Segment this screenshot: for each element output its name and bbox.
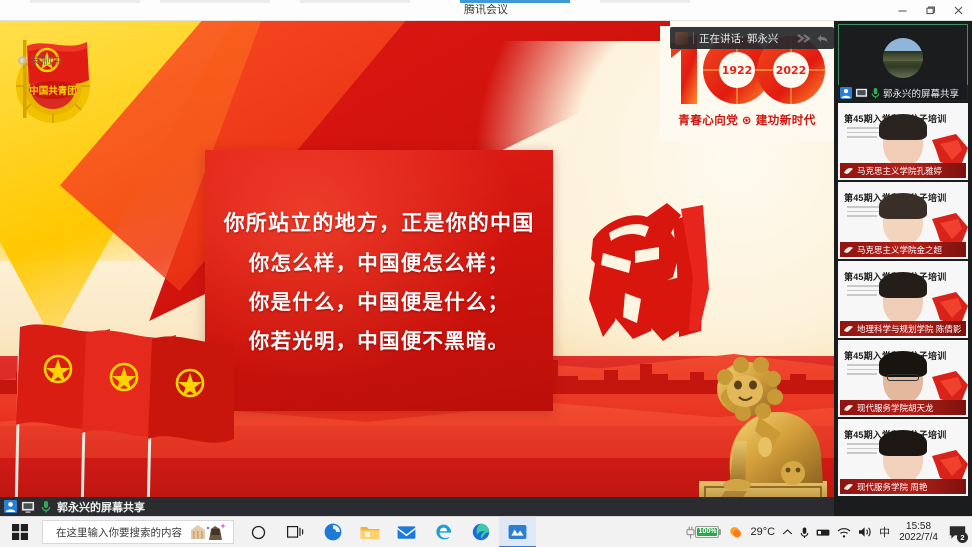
back-arrow-icon[interactable] bbox=[816, 33, 829, 44]
mic-muted-icon bbox=[843, 245, 854, 254]
participant-tile[interactable]: 第45期入党积极分子培训 马克思主义学院金之超 bbox=[838, 182, 968, 259]
temperature-label: 29°C bbox=[750, 526, 775, 538]
screen-share-label: 郭永兴的屏幕共享 bbox=[57, 499, 145, 515]
tencent-meeting-window: 腾讯会议 bbox=[0, 0, 972, 547]
power-plug-icon bbox=[686, 526, 695, 539]
window-title: 腾讯会议 bbox=[0, 0, 972, 21]
participant-name-bar: 马克思主义学院孔雅婷 bbox=[840, 163, 966, 178]
microphone-icon bbox=[871, 87, 880, 99]
participant-name-bar: 地理科学与规划学院 陈倩影 bbox=[840, 321, 966, 336]
battery-indicator[interactable]: 100% bbox=[686, 526, 721, 539]
recording-label: 录制中 bbox=[30, 53, 63, 68]
participant-name: 现代服务学院 周艳 bbox=[857, 481, 927, 493]
active-speaker-bar: 正在讲话: 郭永兴 bbox=[670, 27, 834, 49]
taskbar-icons bbox=[240, 517, 536, 547]
participant-name-bar: 马克思主义学院金之超 bbox=[840, 242, 966, 257]
speaker-avatar-icon bbox=[675, 32, 688, 45]
screen-share-status-bar: 郭永兴的屏幕共享 bbox=[0, 497, 834, 516]
mic-muted-icon bbox=[843, 166, 854, 175]
year-start: 1922 bbox=[722, 64, 753, 77]
participant-face bbox=[883, 118, 923, 166]
participant-name: 地理科学与规划学院 陈倩影 bbox=[857, 323, 961, 335]
participant-tile[interactable]: 第45期入党积极分子培训 现代服务学院胡天龙 bbox=[838, 340, 968, 417]
participant-name: 现代服务学院胡天龙 bbox=[857, 402, 934, 414]
restore-button[interactable] bbox=[916, 0, 944, 21]
action-center-icon[interactable]: 2 bbox=[947, 522, 967, 542]
ime-indicator[interactable]: 中 bbox=[879, 524, 890, 540]
participant-tile[interactable]: 第45期入党积极分子培训 现代服务学院 周艳 bbox=[838, 419, 968, 496]
participant-tile[interactable]: 第45期入党积极分子培训 地理科学与规划学院 陈倩影 bbox=[838, 261, 968, 338]
windows-taskbar: 在这里输入你要搜索的内容 bbox=[0, 516, 972, 547]
notification-count: 2 bbox=[957, 532, 968, 543]
microphone-icon bbox=[39, 500, 53, 513]
participant-name-bar: 现代服务学院胡天龙 bbox=[840, 400, 966, 415]
person-icon bbox=[840, 87, 852, 99]
edge-new-icon[interactable] bbox=[462, 517, 499, 547]
participant-name: 郭永兴的屏幕共享 bbox=[883, 86, 959, 100]
participant-name: 马克思主义学院孔雅婷 bbox=[857, 165, 942, 177]
clock-time: 15:58 bbox=[899, 521, 938, 532]
speaker-bar-actions[interactable] bbox=[796, 33, 829, 44]
participant-tile-self[interactable]: 郭永兴的屏幕共享 bbox=[838, 24, 968, 101]
clock-date: 2022/7/4 bbox=[899, 532, 938, 543]
windows-start-icon[interactable] bbox=[0, 517, 40, 547]
meeting-body: 中国共青团 录制中 你所站立的地方，正是你的中国 你怎么样，中国便怎么样； 你是… bbox=[0, 21, 972, 516]
file-explorer-icon[interactable] bbox=[351, 517, 388, 547]
title-bar: 腾讯会议 bbox=[0, 0, 972, 21]
chevron-icons[interactable] bbox=[796, 33, 812, 44]
participant-name-bar: 现代服务学院 周艳 bbox=[840, 479, 966, 494]
microphone-icon[interactable] bbox=[800, 526, 809, 539]
search-illustration bbox=[189, 523, 227, 541]
shared-screen-stage[interactable]: 中国共青团 录制中 你所站立的地方，正是你的中国 你怎么样，中国便怎么样； 你是… bbox=[0, 21, 834, 516]
quote-line: 你怎么样，中国便怎么样； bbox=[249, 246, 509, 276]
participant-name-bar: 郭永兴的屏幕共享 bbox=[838, 85, 968, 101]
system-tray: 100% 29°C 中 15:58 2022/7/4 2 bbox=[686, 521, 972, 543]
screen-share-icon bbox=[21, 500, 35, 513]
recording-indicator: 录制中 bbox=[18, 53, 63, 68]
quote-line: 你是什么，中国便是什么； bbox=[249, 285, 509, 315]
screen-share-icon bbox=[855, 88, 868, 99]
anniversary-slogan: 青春心向党 ⊛ 建功新时代 bbox=[678, 112, 816, 128]
person-icon bbox=[3, 500, 17, 513]
participant-rail[interactable]: 郭永兴的屏幕共享 第45期入党积极分子培训 马克思主义学院孔雅婷 第45期入党积… bbox=[834, 21, 972, 516]
record-icon bbox=[18, 56, 27, 65]
participant-face bbox=[883, 276, 923, 324]
participant-tile[interactable]: 第45期入党积极分子培训 马克思主义学院孔雅婷 bbox=[838, 103, 968, 180]
tencent-meeting-icon[interactable] bbox=[499, 517, 536, 547]
minimize-button[interactable] bbox=[888, 0, 916, 21]
search-input[interactable]: 在这里输入你要搜索的内容 bbox=[42, 520, 234, 544]
mic-muted-icon bbox=[843, 324, 854, 333]
guardian-lion-statue-icon bbox=[685, 321, 834, 516]
window-controls bbox=[888, 0, 972, 21]
wifi-icon[interactable] bbox=[837, 527, 851, 538]
quote-line: 你若光明，中国便不黑暗。 bbox=[249, 324, 509, 354]
avatar bbox=[883, 38, 923, 78]
slide-quote-card: 你所站立的地方，正是你的中国 你怎么样，中国便怎么样； 你是什么，中国便是什么；… bbox=[205, 150, 553, 411]
year-end: 2022 bbox=[776, 64, 807, 77]
participant-face bbox=[883, 197, 923, 245]
youth-league-flags-icon bbox=[0, 321, 234, 516]
quote-line: 你所站立的地方，正是你的中国 bbox=[224, 207, 535, 237]
chevron-up-icon[interactable] bbox=[782, 528, 793, 536]
task-view-icon[interactable] bbox=[277, 517, 314, 547]
cortana-icon[interactable] bbox=[240, 517, 277, 547]
edge-old-icon[interactable] bbox=[425, 517, 462, 547]
mic-muted-icon bbox=[843, 482, 854, 491]
sun-cloud-icon[interactable] bbox=[728, 525, 743, 540]
battery-percent: 100% bbox=[697, 528, 717, 536]
search-placeholder: 在这里输入你要搜索的内容 bbox=[56, 525, 182, 540]
svg-text:中国共青团: 中国共青团 bbox=[29, 85, 77, 97]
close-button[interactable] bbox=[944, 0, 972, 21]
participant-face bbox=[883, 434, 923, 482]
active-speaker-label: 正在讲话: 郭永兴 bbox=[699, 31, 778, 46]
divider bbox=[693, 32, 694, 44]
participant-name: 马克思主义学院金之超 bbox=[857, 244, 942, 256]
mic-muted-icon bbox=[843, 403, 854, 412]
participant-face bbox=[883, 355, 923, 403]
edge-legacy-icon[interactable] bbox=[314, 517, 351, 547]
mail-icon[interactable] bbox=[388, 517, 425, 547]
clock[interactable]: 15:58 2022/7/4 bbox=[897, 521, 940, 543]
communist-youth-league-emblem-icon: 中国共青团 bbox=[5, 28, 101, 126]
usb-device-icon[interactable] bbox=[816, 527, 830, 538]
volume-icon[interactable] bbox=[858, 526, 872, 538]
